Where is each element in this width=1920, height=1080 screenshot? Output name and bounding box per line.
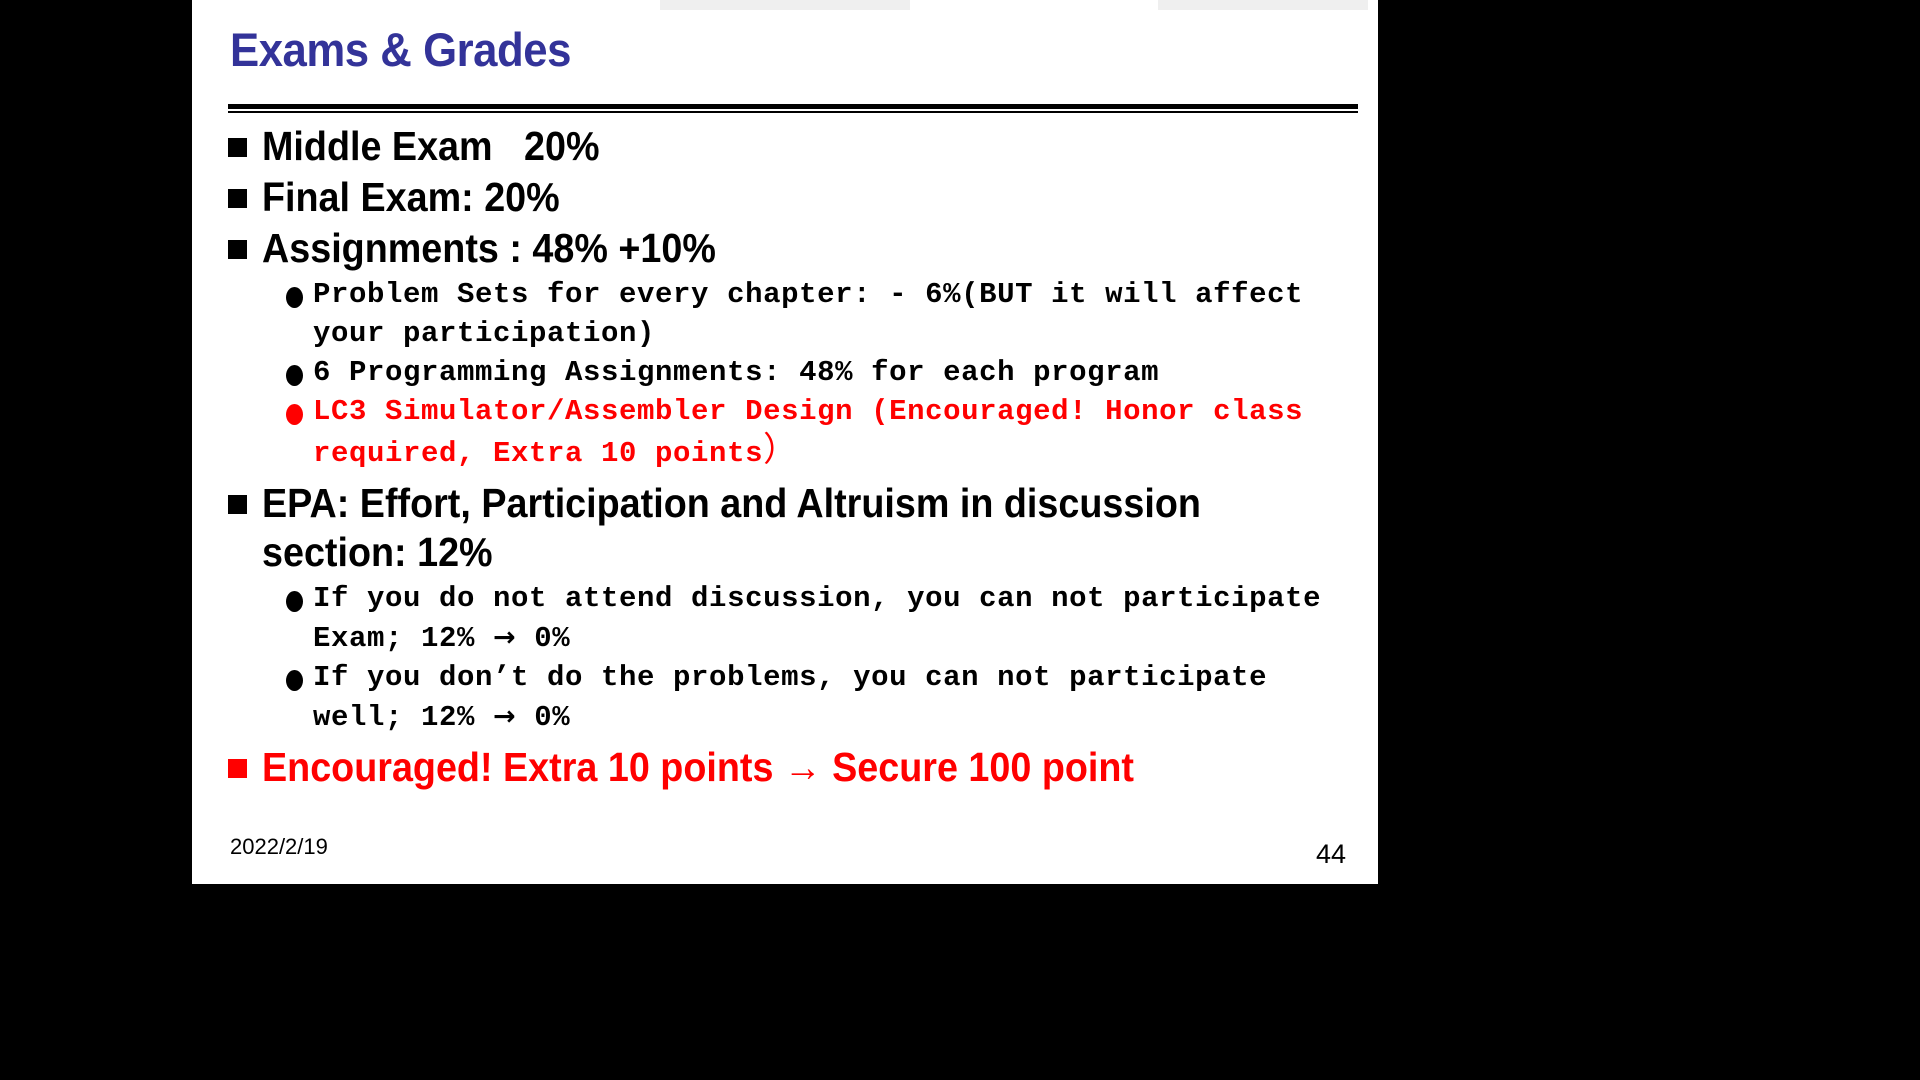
right-arrow-icon: → (493, 701, 516, 732)
slide-title: Exams & Grades (230, 22, 571, 77)
presentation-slide: Exams & Grades Middle Exam 20% Final Exa… (192, 0, 1378, 884)
bullet-text-tail: Secure 100 point (822, 744, 1134, 790)
bullet-text: LC3 Simulator/Assembler Design (Encourag… (313, 392, 1358, 473)
slide-body: Middle Exam 20% Final Exam: 20% Assignme… (228, 122, 1358, 794)
right-arrow-icon: → (493, 622, 516, 653)
bullet-level2-attend-discussion: If you do not attend discussion, you can… (286, 579, 1358, 658)
square-bullet-icon (228, 495, 247, 514)
bullet-text: Final Exam: 20% (262, 173, 560, 222)
square-bullet-icon (228, 759, 247, 778)
bullet-level2-problem-sets: Problem Sets for every chapter: - 6%(BUT… (286, 275, 1358, 353)
round-bullet-icon (286, 591, 303, 612)
bullet-level2-lc3-simulator: LC3 Simulator/Assembler Design (Encourag… (286, 392, 1358, 473)
title-divider-rule (228, 104, 1358, 113)
fullwidth-close-paren: ） (763, 432, 798, 469)
top-edge-artifact-right (1158, 0, 1368, 10)
bullet-text: If you don’t do the problems, you can no… (313, 658, 1358, 737)
bullet-level2-do-problems: If you don’t do the problems, you can no… (286, 658, 1358, 737)
bullet-level1-encouraged: Encouraged! Extra 10 points → Secure 100… (228, 743, 1358, 792)
bullet-text: 6 Programming Assignments: 48% for each … (313, 353, 1159, 392)
round-bullet-icon (286, 404, 303, 425)
square-bullet-icon (228, 189, 247, 208)
bullet-level1-middle-exam: Middle Exam 20% (228, 122, 1358, 171)
bullet-level1-assignments: Assignments : 48% +10% (228, 224, 1358, 273)
divider-thin-line (228, 111, 1358, 113)
footer-page-number: 44 (1316, 839, 1346, 870)
bullet-text: Problem Sets for every chapter: - 6%(BUT… (313, 275, 1358, 353)
bullet-level1-epa: EPA: Effort, Participation and Altruism … (228, 479, 1358, 577)
square-bullet-icon (228, 240, 247, 259)
right-arrow-icon: → (784, 744, 822, 790)
bullet-text: EPA: Effort, Participation and Altruism … (262, 479, 1270, 577)
bullet-text-main: If you don’t do the problems, you can no… (313, 661, 1285, 734)
square-bullet-icon (228, 138, 247, 157)
top-edge-artifact-left (660, 0, 910, 10)
divider-thick-line (228, 104, 1358, 109)
bullet-text: Assignments : 48% +10% (262, 224, 716, 273)
bullet-text-main: LC3 Simulator/Assembler Design (Encourag… (313, 395, 1321, 470)
bullet-level1-final-exam: Final Exam: 20% (228, 173, 1358, 222)
bullet-text-main: If you do not attend discussion, you can… (313, 582, 1339, 655)
bullet-text: Middle Exam 20% (262, 122, 600, 171)
bullet-text-tail: 0% (516, 622, 570, 655)
round-bullet-icon (286, 670, 303, 691)
screenshot-stage: Exams & Grades Middle Exam 20% Final Exa… (0, 0, 1920, 1080)
round-bullet-icon (286, 365, 303, 386)
bullet-text-tail: 0% (516, 701, 570, 734)
bullet-text: Encouraged! Extra 10 points → Secure 100… (262, 743, 1134, 792)
bullet-level2-programming-assignments: 6 Programming Assignments: 48% for each … (286, 353, 1358, 392)
round-bullet-icon (286, 287, 303, 308)
footer-date: 2022/2/19 (230, 834, 328, 860)
bullet-text-main: Encouraged! Extra 10 points (262, 744, 784, 790)
bullet-text: If you do not attend discussion, you can… (313, 579, 1358, 658)
